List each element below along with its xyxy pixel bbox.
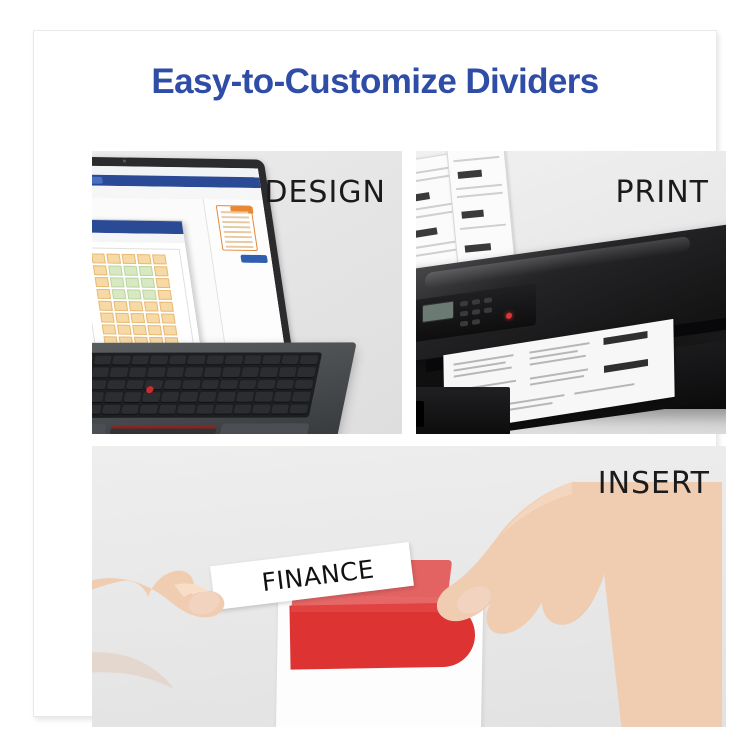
divider-preview-rows [221, 211, 254, 247]
printer-button[interactable] [484, 307, 492, 313]
keyboard-key [273, 392, 292, 402]
panel-design: DESIGN [92, 151, 402, 434]
keyboard-key [295, 380, 314, 390]
keyboard-key [107, 380, 126, 390]
keyboard-key [203, 368, 222, 378]
keyboard-key [182, 380, 201, 390]
label-grid-cells [92, 253, 184, 346]
keyboard-key [281, 355, 300, 365]
printer-lcd-screen [422, 301, 454, 323]
dialog-titlebar [92, 218, 184, 234]
keyboard-key [139, 405, 158, 415]
grid-cell[interactable] [100, 313, 115, 323]
keyboard-key [254, 392, 273, 402]
panel-print: PRINT [416, 151, 726, 434]
printer-button[interactable] [460, 321, 468, 327]
touchpad[interactable] [103, 426, 217, 434]
printer-button[interactable] [472, 319, 480, 325]
laptop-screen [92, 164, 285, 347]
keyboard-key [161, 392, 180, 402]
keyboard-key [257, 380, 276, 390]
keyboard-key [128, 368, 147, 378]
grid-cell[interactable] [125, 278, 140, 288]
keyboard-key [93, 356, 112, 366]
grid-cell[interactable] [115, 313, 130, 323]
keyboard-key [187, 356, 206, 366]
grid-cell[interactable] [163, 325, 178, 335]
keyboard-key [252, 404, 271, 414]
keyboard-key [177, 404, 196, 414]
keyboard-key [104, 392, 123, 402]
grid-cell[interactable] [157, 290, 172, 300]
grid-cell[interactable] [117, 325, 132, 335]
grid-cell[interactable] [95, 277, 110, 287]
panel-label-design: DESIGN [264, 175, 386, 210]
grid-cell[interactable] [139, 266, 154, 276]
palm-rest-left [92, 424, 107, 434]
printer-button[interactable] [472, 299, 480, 305]
keyboard-key [236, 392, 255, 402]
keyboard-key [109, 368, 128, 378]
keyboard-key [126, 380, 145, 390]
grid-cell[interactable] [144, 301, 159, 311]
grid-cell[interactable] [122, 254, 137, 264]
grid-cell[interactable] [152, 254, 167, 264]
dialog-body [92, 240, 204, 347]
keyboard-key [102, 405, 121, 415]
hand-on-keyboard [268, 423, 402, 434]
keyboard-key [179, 392, 198, 402]
keyboard-key [201, 380, 220, 390]
grid-cell[interactable] [93, 265, 108, 275]
grid-cell[interactable] [108, 266, 123, 276]
keyboard-key [290, 404, 309, 414]
keyboard-key [225, 355, 244, 365]
grid-cell[interactable] [130, 313, 145, 323]
grid-cell[interactable] [129, 301, 144, 311]
keyboard-key [196, 404, 215, 414]
keyboard-key [168, 356, 187, 366]
keyboard-key [217, 392, 236, 402]
image-card: Easy-to-Customize Dividers [33, 30, 717, 717]
grid-cell[interactable] [137, 254, 152, 264]
grid-cell[interactable] [161, 314, 176, 324]
keyboard-key [92, 405, 102, 415]
keyboard-key [238, 380, 257, 390]
keyboard-key [158, 404, 177, 414]
keyboard-key [131, 356, 150, 366]
keyboard-key [149, 356, 168, 366]
label-grid [92, 247, 198, 347]
grid-cell[interactable] [102, 324, 117, 334]
grid-cell[interactable] [146, 313, 161, 323]
panel-label-insert: INSERT [598, 466, 710, 501]
printer-button[interactable] [460, 311, 468, 317]
keyboard-key [233, 404, 252, 414]
preview-action-button[interactable] [240, 255, 268, 263]
grid-cell[interactable] [159, 302, 174, 312]
memory-card-slot[interactable] [416, 401, 424, 427]
grid-cell[interactable] [127, 289, 142, 299]
hand-left [92, 541, 302, 727]
grid-cell[interactable] [106, 254, 121, 264]
keyboard-key [271, 404, 290, 414]
keyboard-key [92, 392, 104, 402]
app-nav-tab [92, 176, 103, 183]
keyboard-key [300, 355, 319, 365]
grid-cell[interactable] [112, 289, 127, 299]
grid-cell[interactable] [142, 290, 157, 300]
keyboard-key [276, 380, 295, 390]
printer-button[interactable] [484, 297, 492, 303]
keyboard-key [163, 380, 182, 390]
power-indicator-icon [506, 312, 512, 319]
grid-cell[interactable] [96, 289, 111, 299]
keyboard-key [92, 368, 109, 378]
keyboard-key [278, 368, 297, 378]
keyboard-key [297, 368, 316, 378]
divider-preview [216, 205, 258, 251]
keyboard-key [260, 368, 279, 378]
grid-cell[interactable] [123, 266, 138, 276]
page-title: Easy-to-Customize Dividers [34, 62, 716, 102]
printer-front-corner [416, 387, 510, 434]
keyboard-key [292, 392, 311, 402]
keyboard-key [241, 368, 260, 378]
grid-cell[interactable] [147, 325, 162, 335]
hand-right [422, 482, 722, 727]
printer-button[interactable] [460, 301, 468, 307]
grid-cell[interactable] [140, 278, 155, 288]
product-feature-image: Easy-to-Customize Dividers [0, 0, 750, 750]
laptop-keyboard[interactable] [92, 352, 322, 418]
webcam-icon [123, 159, 126, 162]
keyboard-key [142, 392, 161, 402]
keyboard-key [184, 368, 203, 378]
grid-cell[interactable] [113, 301, 128, 311]
keyboard-key [112, 356, 131, 366]
keyboard-key [123, 392, 142, 402]
grid-cell[interactable] [98, 301, 113, 311]
keyboard-key [120, 405, 139, 415]
keyboard-key [243, 355, 262, 365]
keyboard-key [219, 380, 238, 390]
keyboard-key [222, 368, 241, 378]
laptop-base [92, 342, 357, 434]
keyboard-key [206, 355, 225, 365]
keyboard-key [262, 355, 281, 365]
grid-cell[interactable] [110, 277, 125, 287]
laptop-lid [92, 155, 293, 358]
grid-cell[interactable] [132, 325, 147, 335]
keyboard-key [166, 368, 185, 378]
grid-cell[interactable] [154, 266, 169, 276]
grid-cell[interactable] [156, 278, 171, 288]
keyboard-key [147, 368, 166, 378]
keyboard-key [92, 380, 107, 390]
keyboard-key [214, 404, 233, 414]
keyboard-key [198, 392, 217, 402]
grid-cell[interactable] [92, 253, 106, 263]
panel-label-print: PRINT [615, 175, 709, 210]
panel-insert: FINANCE INSERT [92, 446, 726, 727]
printer-button[interactable] [472, 309, 480, 315]
